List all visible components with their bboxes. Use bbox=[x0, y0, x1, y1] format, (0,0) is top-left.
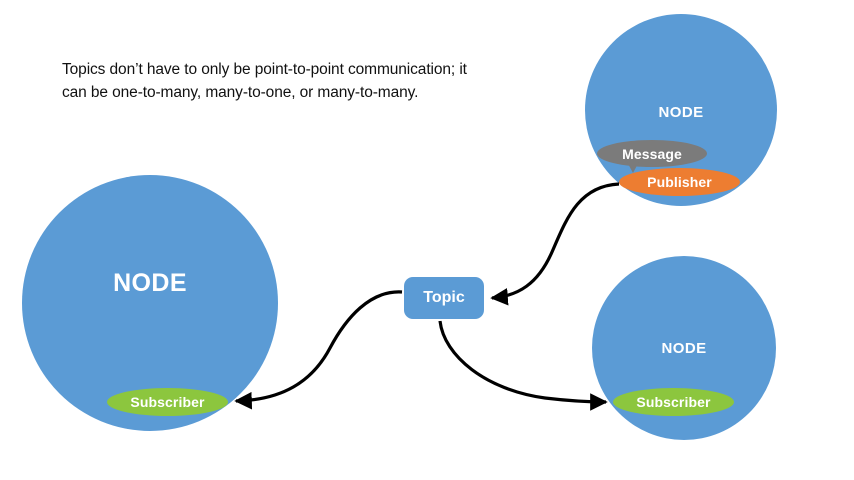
node-bottom-right-label: NODE bbox=[592, 340, 776, 357]
diagram-canvas: Topics don’t have to only be point-to-po… bbox=[0, 0, 854, 480]
subscriber-left[interactable]: Subscriber bbox=[107, 388, 228, 416]
message-top-right[interactable]: Message bbox=[597, 140, 707, 167]
subscriber-bottom-right-label: Subscriber bbox=[636, 394, 710, 410]
topic-label: Topic bbox=[423, 289, 464, 307]
node-left-label: NODE bbox=[22, 269, 278, 298]
subscriber-left-label: Subscriber bbox=[130, 394, 204, 410]
publisher-top-right-label: Publisher bbox=[647, 174, 712, 190]
topic-box[interactable]: Topic bbox=[404, 277, 484, 319]
subscriber-bottom-right[interactable]: Subscriber bbox=[613, 388, 734, 416]
publisher-top-right[interactable]: Publisher bbox=[619, 168, 740, 196]
node-top-right-label: NODE bbox=[585, 104, 777, 121]
caption-text: Topics don’t have to only be point-to-po… bbox=[62, 58, 482, 105]
edge-topic-to-subscriber-bottom-right bbox=[440, 321, 606, 402]
edge-publisher-to-topic bbox=[492, 184, 619, 298]
